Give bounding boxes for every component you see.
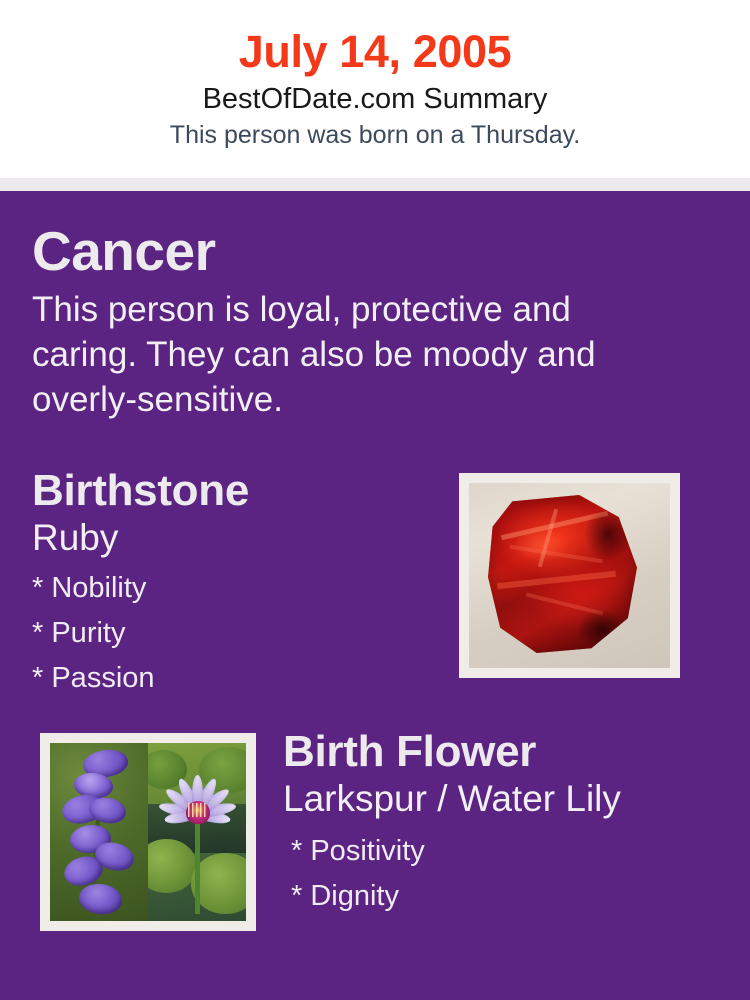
birth-flower-trait-list: * Positivity * Dignity bbox=[283, 829, 750, 919]
page-title: July 14, 2005 bbox=[0, 26, 750, 78]
born-day-text: This person was born on a Thursday. bbox=[0, 119, 750, 152]
birth-flower-image bbox=[50, 743, 246, 921]
birthstone-image-frame bbox=[459, 473, 680, 678]
card-body: Cancer This person is loyal, protective … bbox=[0, 191, 750, 1000]
zodiac-description: This person is loyal, protective and car… bbox=[32, 287, 652, 422]
zodiac-sign-name: Cancer bbox=[32, 219, 720, 283]
ruby-facet bbox=[497, 571, 616, 589]
water-lily-icon bbox=[148, 743, 246, 921]
ruby-crystal-icon bbox=[469, 483, 670, 668]
summary-card: July 14, 2005 BestOfDate.com Summary Thi… bbox=[0, 0, 750, 1000]
list-item: * Positivity bbox=[291, 829, 750, 874]
site-summary-subtitle: BestOfDate.com Summary bbox=[0, 80, 750, 118]
lily-stamen-center bbox=[186, 801, 209, 824]
ruby-shadow bbox=[576, 609, 628, 650]
birth-flower-image-frame bbox=[40, 733, 256, 931]
larkspur-icon bbox=[50, 743, 148, 921]
zodiac-section: Cancer This person is loyal, protective … bbox=[0, 191, 750, 422]
birth-flower-section: Birth Flower Larkspur / Water Lily * Pos… bbox=[0, 723, 750, 938]
birth-flower-name: Larkspur / Water Lily bbox=[283, 777, 750, 821]
larkspur-blossom bbox=[87, 795, 128, 826]
header-divider bbox=[0, 178, 750, 191]
list-item: * Dignity bbox=[291, 874, 750, 919]
lily-blossom bbox=[166, 775, 231, 843]
ruby-gem-shape bbox=[485, 495, 637, 653]
birth-flower-heading: Birth Flower bbox=[283, 725, 750, 779]
larkspur-blossom bbox=[78, 881, 124, 916]
birthstone-section: Birthstone Ruby * Nobility * Purity * Pa… bbox=[0, 464, 750, 701]
flower-composite-photo bbox=[50, 743, 246, 921]
card-header: July 14, 2005 BestOfDate.com Summary Thi… bbox=[0, 0, 750, 178]
birthstone-image bbox=[469, 483, 670, 668]
ruby-shadow bbox=[585, 508, 631, 562]
